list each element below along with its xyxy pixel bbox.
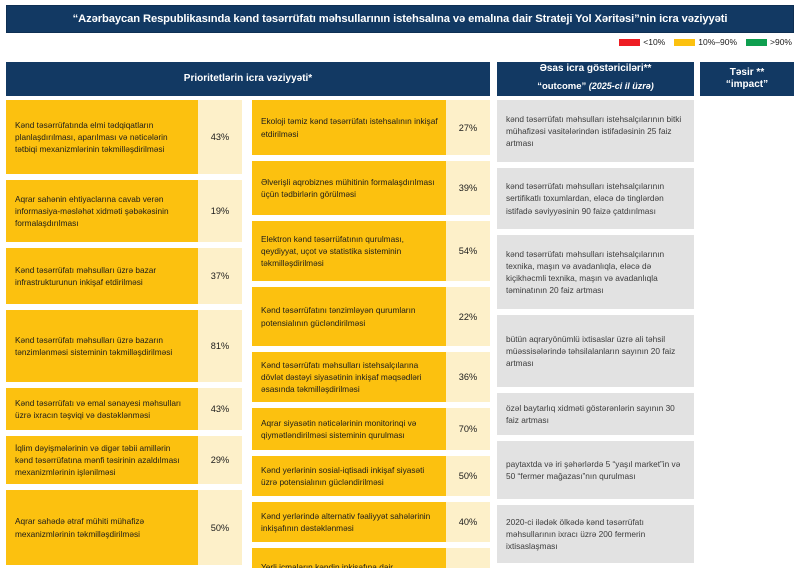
outcome-row[interactable]: kənd təsərrüfatı məhsulları istehsalçıla… [497,235,694,309]
legend-label-low: <10% [643,37,665,47]
priority-left-text: Kənd təsərrüfatı məhsulları üzrə bazarın… [6,310,198,382]
priority-right-text: Kənd təsərrüfatını tənzimləyən qurumları… [252,287,446,346]
slide-root: “Azərbaycan Respublikasında kənd təsərrü… [0,0,800,568]
priority-right-row[interactable]: Ekoloji təmiz kənd təsərrüfatı istehsalı… [252,100,490,155]
outcome-row[interactable]: bütün aqraryönümlü ixtisaslar üzrə ali t… [497,315,694,387]
priority-left-row[interactable]: Aqrar sahədə ətraf mühiti mühafizə mexan… [6,490,242,565]
priority-right-text: Elektron kənd təsərrüfatının qurulması, … [252,221,446,281]
priority-left-text: Kənd təsərrüfatı və emal sənayesi məhsul… [6,388,198,430]
priority-left-row[interactable]: Kənd təsərrüfatında elmi tədqiqatların p… [6,100,242,174]
priority-left-text: Aqrar sahənin ehtiyaclarına cavab verən … [6,180,198,242]
priority-right-percent: 50% [446,456,490,496]
legend-item-medium: 10%–90% [674,37,737,47]
outcome-row[interactable]: özəl baytarlıq xidməti göstərənlərin say… [497,393,694,435]
priority-right-row[interactable]: Kənd yerlərində alternativ fəaliyyət sah… [252,502,490,542]
outcome-row[interactable]: kənd təsərrüfatı məhsulları istehsalçıla… [497,168,694,229]
priorities-right-column: Ekoloji təmiz kənd təsərrüfatı istehsalı… [252,100,490,568]
priority-left-percent: 19% [198,180,242,242]
priority-left-row[interactable]: Aqrar sahənin ehtiyaclarına cavab verən … [6,180,242,242]
priority-right-text: Kənd yerlərində alternativ fəaliyyət sah… [252,502,446,542]
column-header-outcome-quote: “outcome” [537,81,586,92]
priority-right-text: Kənd təsərrüfatı məhsulları istehsalçıla… [252,352,446,402]
priority-left-percent: 50% [198,490,242,565]
column-header-outcome: Əsas icra göstəriciləri** “outcome” (202… [497,62,694,96]
column-header-outcome-period: (2025-ci il üzrə) [586,81,654,91]
legend-swatch-medium-icon [674,39,695,46]
legend-item-high: >90% [746,37,792,47]
priority-right-text: Əlverişli aqrobiznes mühitinin formalaşd… [252,161,446,215]
priority-left-text: Kənd təsərrüfatı məhsulları üzrə bazar i… [6,248,198,304]
legend-swatch-high-icon [746,39,767,46]
outcome-row[interactable]: 2020-ci ilədək ölkədə kənd təsərrüfatı m… [497,505,694,563]
priority-right-row[interactable]: Yerli icmaların kəndin inkişafına dair t… [252,548,490,568]
page-title-text: “Azərbaycan Respublikasında kənd təsərrü… [73,13,728,25]
outcome-row[interactable]: paytaxtda və iri şəhərlərdə 5 “yaşıl mar… [497,441,694,499]
priority-right-percent: 36% [446,352,490,402]
priority-left-row[interactable]: Kənd təsərrüfatı məhsulları üzrə bazar i… [6,248,242,304]
legend-label-high: >90% [770,37,792,47]
priority-left-text: Aqrar sahədə ətraf mühiti mühafizə mexan… [6,490,198,565]
priority-left-row[interactable]: Kənd təsərrüfatı və emal sənayesi məhsul… [6,388,242,430]
priority-right-row[interactable]: Elektron kənd təsərrüfatının qurulması, … [252,221,490,281]
priority-left-percent: 43% [198,388,242,430]
priority-left-row[interactable]: İqlim dəyişmələrinin və digər təbii amil… [6,436,242,484]
column-header-impact: Təsir ** “impact” [700,62,794,96]
priority-left-text: İqlim dəyişmələrinin və digər təbii amil… [6,436,198,484]
column-header-impact-line1: Təsir ** [726,67,768,80]
priority-right-text: Aqrar siyasətin nəticələrinin monitorinq… [252,408,446,450]
priority-left-percent: 37% [198,248,242,304]
priority-right-text: Kənd yerlərinin sosial-iqtisadi inkişaf … [252,456,446,496]
column-header-outcome-line1: Əsas icra göstəriciləri** [537,63,654,76]
outcome-row[interactable]: kənd təsərrüfatı məhsulları istehsalçıla… [497,100,694,162]
priority-right-row[interactable]: Əlverişli aqrobiznes mühitinin formalaşd… [252,161,490,215]
column-header-priorities-label: Prioritetlərin icra vəziyyəti* [184,73,312,86]
priority-right-row[interactable]: Kənd təsərrüfatı məhsulları istehsalçıla… [252,352,490,402]
priority-left-percent: 43% [198,100,242,174]
priority-right-percent: 27% [446,100,490,155]
priority-right-text: Ekoloji təmiz kənd təsərrüfatı istehsalı… [252,100,446,155]
page-title: “Azərbaycan Respublikasında kənd təsərrü… [6,5,794,33]
legend-item-low: <10% [619,37,665,47]
priority-right-row[interactable]: Aqrar siyasətin nəticələrinin monitorinq… [252,408,490,450]
outcome-column: kənd təsərrüfatı məhsulları istehsalçıla… [497,100,694,568]
legend-label-medium: 10%–90% [698,37,737,47]
priority-right-text: Yerli icmaların kəndin inkişafına dair t… [252,548,446,568]
priority-right-percent: 54% [446,221,490,281]
priority-right-percent: 40% [446,502,490,542]
column-header-priorities: Prioritetlərin icra vəziyyəti* [6,62,490,96]
priority-left-row[interactable]: Kənd təsərrüfatı məhsulları üzrə bazarın… [6,310,242,382]
priority-right-percent: 39% [446,161,490,215]
priority-right-percent: 22% [446,287,490,346]
priority-right-row[interactable]: Kənd yerlərinin sosial-iqtisadi inkişaf … [252,456,490,496]
legend: <10%10%–90%>90% [619,37,792,47]
column-header-impact-line2: “impact” [726,79,768,92]
legend-swatch-low-icon [619,39,640,46]
priority-left-text: Kənd təsərrüfatında elmi tədqiqatların p… [6,100,198,174]
priority-right-row[interactable]: Kənd təsərrüfatını tənzimləyən qurumları… [252,287,490,346]
priorities-left-column: Kənd təsərrüfatında elmi tədqiqatların p… [6,100,242,568]
priority-right-percent: 40% [446,548,490,568]
priority-right-percent: 70% [446,408,490,450]
priority-left-percent: 81% [198,310,242,382]
priority-left-percent: 29% [198,436,242,484]
